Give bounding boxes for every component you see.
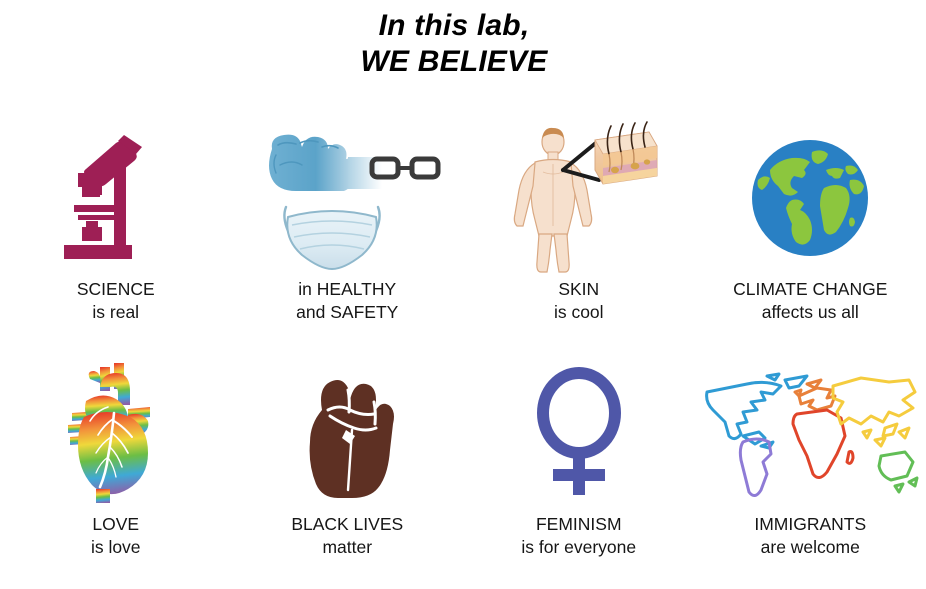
belief-line-2: are welcome <box>754 536 866 559</box>
fist-art <box>232 353 464 513</box>
belief-caption-health-safety: in HEALTHY and SAFETY <box>296 278 398 324</box>
belief-item-health-safety: in HEALTHY and SAFETY <box>232 118 464 353</box>
belief-item-science: SCIENCE is real <box>0 118 232 353</box>
belief-line-2: matter <box>291 536 403 559</box>
belief-line-2: is cool <box>554 301 604 324</box>
belief-line-1: SCIENCE <box>77 278 155 301</box>
title-line-1: In this lab, <box>0 8 926 44</box>
beliefs-grid: SCIENCE is real <box>0 118 926 588</box>
globe-art <box>695 118 926 278</box>
globe-icon <box>748 136 872 260</box>
map-north-america-shape <box>706 374 806 448</box>
belief-item-skin: SKIN is cool <box>463 118 695 353</box>
belief-line-1: CLIMATE CHANGE <box>733 278 887 301</box>
belief-caption-immigrants: IMMIGRANTS are welcome <box>754 513 866 559</box>
anatomical-heart-shape <box>68 363 150 503</box>
microscope-icon <box>56 123 176 273</box>
raised-fist-icon <box>292 366 402 501</box>
belief-caption-black-lives: BLACK LIVES matter <box>291 513 403 559</box>
venus-symbol-icon <box>524 363 634 503</box>
belief-caption-feminism: FEMINISM is for everyone <box>521 513 636 559</box>
belief-line-1: IMMIGRANTS <box>754 513 866 536</box>
belief-line-1: in HEALTHY <box>296 278 398 301</box>
world-map-art <box>695 353 926 513</box>
belief-line-2: is love <box>91 536 141 559</box>
blue-glove-shape <box>269 134 382 190</box>
ppe-art <box>232 118 464 278</box>
belief-caption-skin: SKIN is cool <box>554 278 604 324</box>
title-line-2: WE BELIEVE <box>0 44 926 80</box>
belief-item-climate: CLIMATE CHANGE affects us all <box>695 118 926 353</box>
surgical-mask-shape <box>285 207 380 269</box>
heart-art <box>0 353 232 513</box>
beliefs-row-2: LOVE is love <box>0 353 926 588</box>
belief-line-2: is real <box>77 301 155 324</box>
human-figure-shape <box>515 128 592 272</box>
belief-item-feminism: FEMINISM is for everyone <box>463 353 695 588</box>
microscope-art <box>0 118 232 278</box>
human-body-skin-icon <box>491 118 666 278</box>
skin-art <box>463 118 695 278</box>
lab-values-poster: In this lab, WE BELIEVE <box>0 0 926 589</box>
glove-glasses-mask-icon <box>252 121 442 276</box>
world-map-icon <box>703 366 918 501</box>
belief-line-1: FEMINISM <box>521 513 636 536</box>
belief-caption-love: LOVE is love <box>91 513 141 559</box>
belief-line-1: BLACK LIVES <box>291 513 403 536</box>
belief-line-1: LOVE <box>91 513 141 536</box>
belief-item-love: LOVE is love <box>0 353 232 588</box>
belief-item-black-lives: BLACK LIVES matter <box>232 353 464 588</box>
venus-art <box>463 353 695 513</box>
map-oceania-shape <box>879 452 917 492</box>
belief-line-1: SKIN <box>554 278 604 301</box>
skin-cross-section-shape <box>595 122 657 184</box>
belief-item-immigrants: IMMIGRANTS are welcome <box>695 353 926 588</box>
beliefs-row-1: SCIENCE is real <box>0 118 926 353</box>
belief-caption-science: SCIENCE is real <box>77 278 155 324</box>
belief-line-2: is for everyone <box>521 536 636 559</box>
belief-line-2: and SAFETY <box>296 301 398 324</box>
belief-caption-climate: CLIMATE CHANGE affects us all <box>733 278 887 324</box>
page-title: In this lab, WE BELIEVE <box>0 8 926 80</box>
rainbow-heart-icon <box>56 361 176 506</box>
belief-line-2: affects us all <box>733 301 887 324</box>
